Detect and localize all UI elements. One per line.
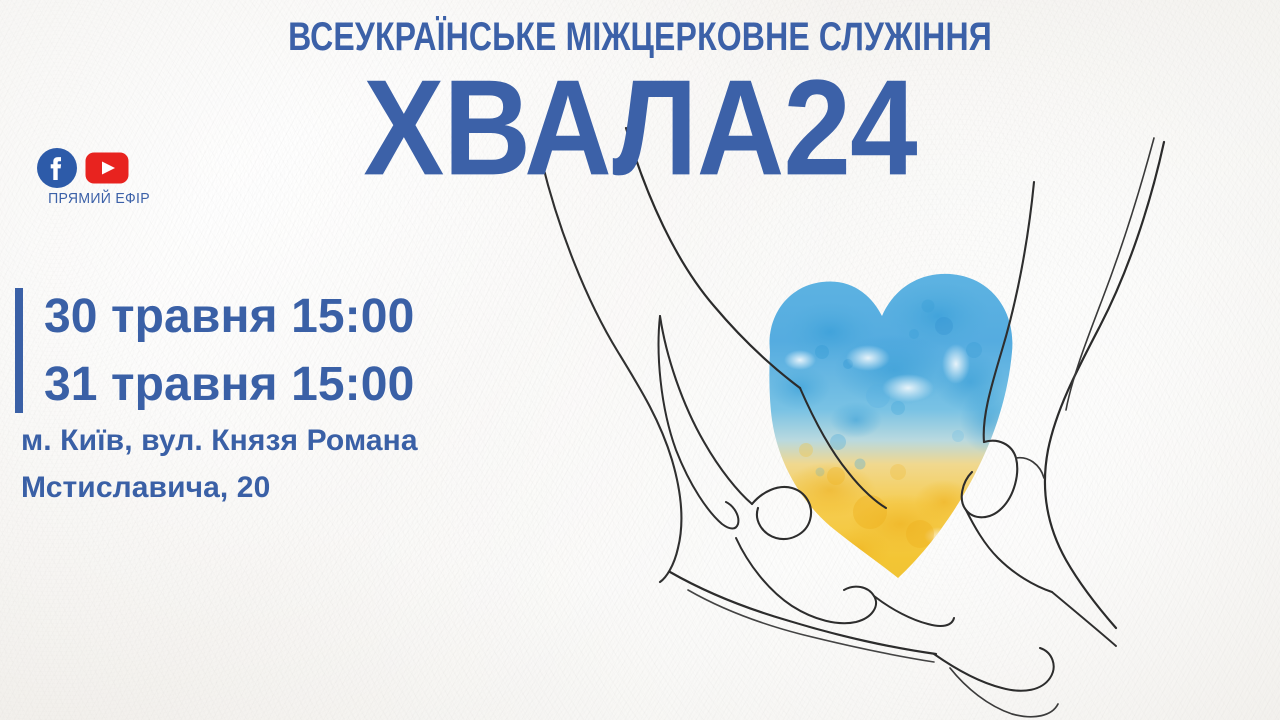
schedule-accent-bar bbox=[15, 288, 23, 413]
schedule-line: 30 травня 15:00 bbox=[44, 283, 414, 351]
live-broadcast-badge[interactable]: ПРЯМИЙ ЕФІР bbox=[24, 146, 174, 207]
youtube-icon[interactable] bbox=[85, 152, 129, 184]
venue-address-line-2: Мстиславича, 20 bbox=[21, 465, 541, 512]
heart-shape bbox=[750, 260, 1040, 600]
social-icons-row bbox=[24, 146, 174, 190]
schedule-line: 31 травня 15:00 bbox=[44, 351, 414, 419]
hands-holding-heart-illustration bbox=[500, 120, 1260, 720]
schedule-block: 30 травня 15:00 31 травня 15:00 bbox=[15, 283, 414, 419]
live-broadcast-label: ПРЯМИЙ ЕФІР bbox=[26, 191, 172, 207]
poster-canvas: ВСЕУКРАЇНСЬКЕ МІЖЦЕРКОВНЕ СЛУЖІННЯ ХВАЛА… bbox=[0, 0, 1280, 720]
venue-address: м. Київ, вул. Князя Романа Мстиславича, … bbox=[21, 418, 541, 511]
schedule-lines: 30 травня 15:00 31 травня 15:00 bbox=[44, 283, 414, 419]
page-title: ХВАЛА24 bbox=[51, 60, 1229, 196]
venue-address-line-1: м. Київ, вул. Князя Романа bbox=[21, 418, 541, 465]
facebook-icon[interactable] bbox=[36, 147, 78, 189]
